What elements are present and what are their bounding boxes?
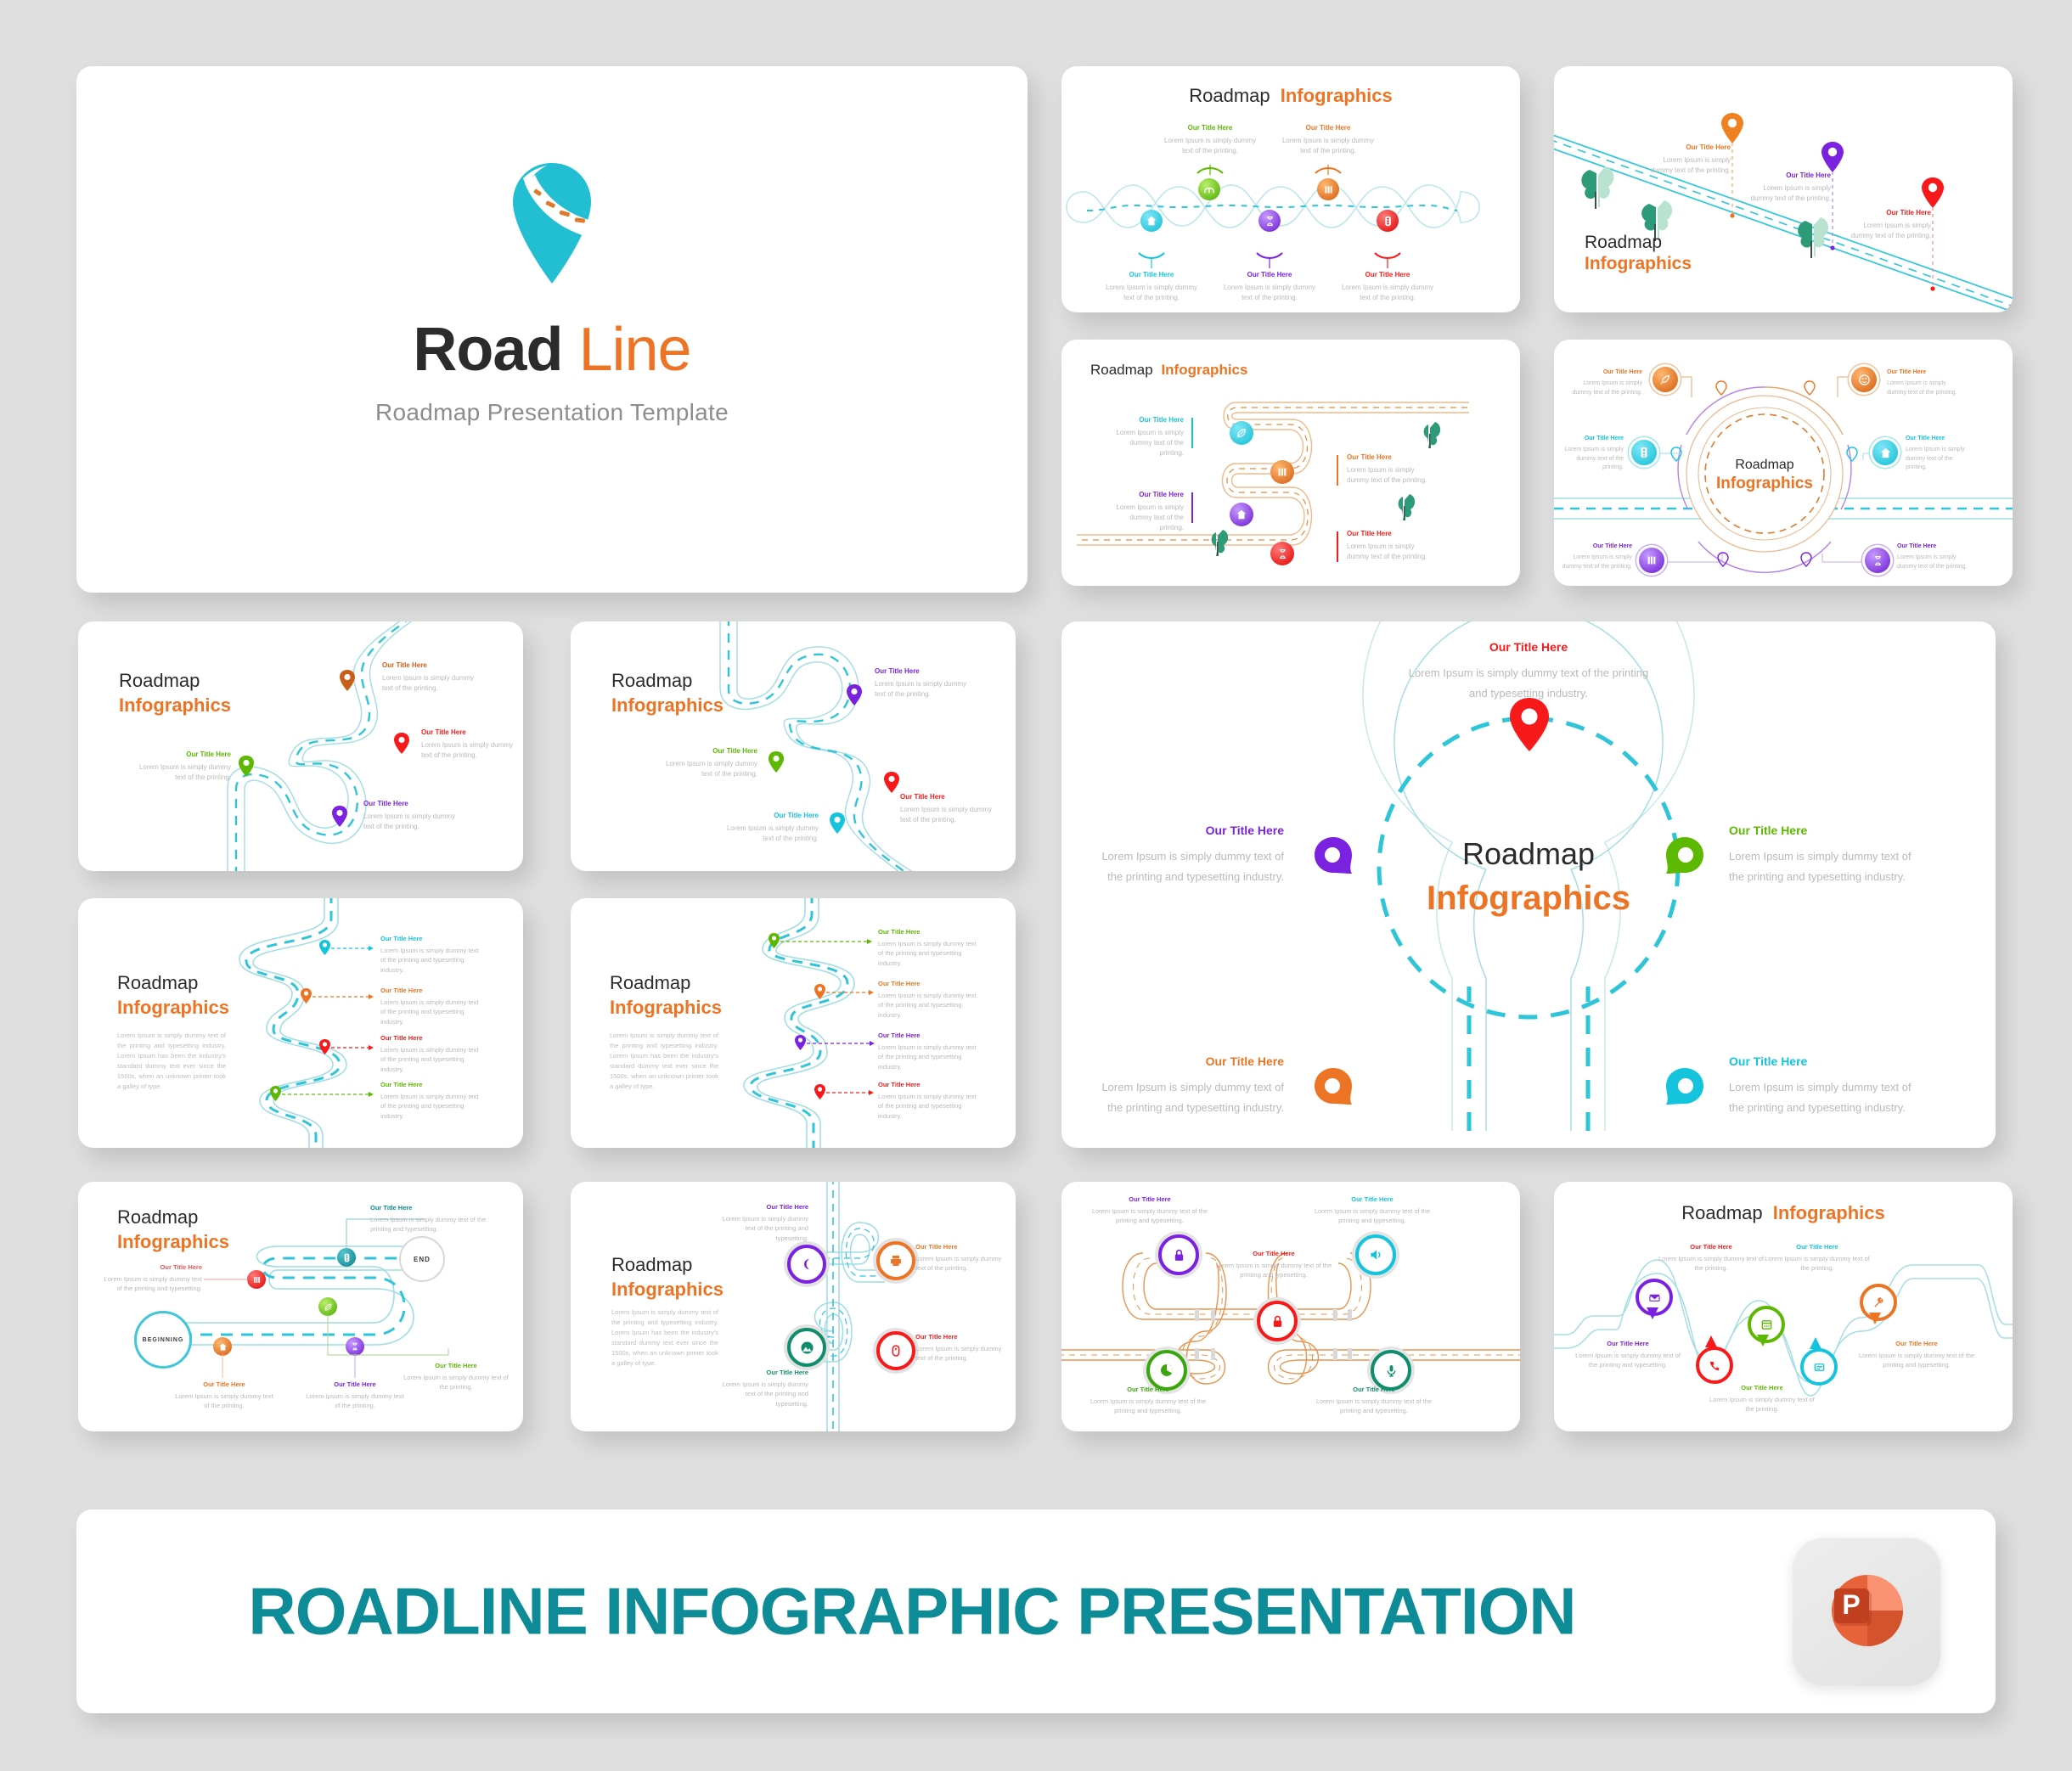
slide-four-badge[interactable]: Roadmap Infographics Lorem Ipsum is simp… — [571, 1182, 1016, 1431]
map-pin-icon[interactable] — [846, 683, 863, 706]
map-pin-icon[interactable] — [768, 751, 785, 773]
step-block: Our Title Here Lorem Ipsum is simply dum… — [1561, 543, 1632, 571]
hourglass-icon[interactable] — [1865, 548, 1890, 573]
step-block: Our Title Here Lorem Ipsum is simply dum… — [1564, 369, 1642, 397]
step-block: Our Title Here Lorem Ipsum is simply dum… — [401, 1362, 511, 1392]
slide-winding-a[interactable]: Roadmap Infographics Our Title Here Lore… — [78, 621, 523, 871]
step-block: Our Title Here Lorem Ipsum is simply dum… — [1556, 436, 1624, 473]
home-icon[interactable] — [1872, 440, 1898, 465]
step-block: Our Title Here Lorem Ipsum is simply dum… — [138, 751, 231, 783]
lock-icon[interactable] — [1257, 1301, 1298, 1341]
step-block: Our Title Here Lorem Ipsum is simply dum… — [1159, 124, 1261, 156]
card-icon[interactable] — [1800, 1348, 1838, 1386]
center-title: Roadmap Infographics — [1393, 835, 1664, 919]
tree-icon — [1574, 158, 1625, 211]
step-block: Our Title Here Lorem Ipsum is simply dum… — [99, 1263, 202, 1294]
map-pin-icon — [1717, 552, 1729, 567]
step-block: Our Title Here Lorem Ipsum is simply dum… — [725, 812, 819, 844]
map-pin-icon — [1804, 380, 1816, 396]
step-block: Our Title Here Lorem Ipsum is simply dum… — [878, 928, 980, 968]
step-block: Our Title Here Lorem Ipsum is simply dum… — [380, 987, 482, 1026]
step-block: Our Title Here Lorem Ipsum is simply dum… — [1347, 453, 1432, 486]
pin-tail — [1646, 1307, 1659, 1321]
step-block: Our Title Here Lorem Ipsum is simply dum… — [380, 935, 482, 975]
map-pin-icon[interactable] — [768, 932, 780, 949]
map-pin-icon[interactable] — [1921, 177, 1945, 209]
map-pin-icon — [1800, 552, 1812, 567]
pin-tail — [1868, 1313, 1882, 1326]
divider — [1337, 531, 1338, 562]
step-block: Our Title Here Lorem Ipsum is simply dum… — [1573, 1340, 1683, 1370]
leader-line — [331, 946, 375, 951]
leader-line — [826, 1090, 876, 1095]
map-pin-icon[interactable] — [883, 771, 900, 794]
slide-title: Roadmap Infographics — [1090, 362, 1247, 379]
step-block: Our Title Here Lorem Ipsum is simply dum… — [1656, 1243, 1766, 1273]
map-pin-icon[interactable] — [829, 812, 846, 835]
leader-line — [807, 1041, 876, 1046]
pin-tail — [1756, 1335, 1770, 1348]
banner-title: ROADLINE INFOGRAPHIC PRESENTATION — [105, 1573, 1719, 1650]
map-pin-icon[interactable] — [1664, 1066, 1705, 1107]
step-block: Our Title Here Lorem Ipsum is simply dum… — [1729, 1054, 1914, 1118]
slide-big-circle[interactable]: Roadmap Infographics Our Title Here Lore… — [1061, 621, 1996, 1148]
rocket-icon[interactable] — [1653, 367, 1678, 392]
beginning-badge[interactable]: BEGINNING — [134, 1311, 192, 1369]
tree-icon — [1209, 528, 1231, 557]
step-block: Our Title Here Lorem Ipsum is simply dum… — [304, 1380, 406, 1411]
step-block: Our Title Here Lorem Ipsum is simply dum… — [1104, 416, 1184, 458]
step-block: Our Title Here Lorem Ipsum is simply dum… — [380, 1034, 482, 1074]
slide-interchange[interactable]: Our Title Here Lorem Ipsum is simply dum… — [1061, 1182, 1520, 1431]
map-pin-icon[interactable] — [331, 805, 348, 828]
leader-line — [331, 1045, 375, 1050]
pie-chart-icon[interactable] — [1146, 1350, 1187, 1391]
map-pin-icon[interactable] — [1664, 835, 1705, 876]
speaker-icon[interactable] — [1355, 1234, 1396, 1275]
leader-line — [219, 1354, 228, 1380]
step-block: Our Title Here Lorem Ipsum is simply dum… — [915, 1333, 1009, 1363]
step-block: Our Title Here Lorem Ipsum is simply dum… — [1090, 1195, 1209, 1226]
leaf-icon[interactable] — [1230, 421, 1253, 445]
lock-icon[interactable] — [1158, 1234, 1199, 1275]
slide-cover[interactable]: Road Line Roadmap Presentation Template — [76, 66, 1028, 593]
slide-wave-badge[interactable]: Roadmap Infographics Our Title Here — [1554, 1182, 2013, 1431]
step-block: Our Title Here Lorem Ipsum is simply dum… — [1277, 124, 1379, 156]
road-icon[interactable] — [1631, 440, 1657, 465]
leader-line — [312, 994, 375, 999]
connector-arcs — [1061, 158, 1520, 277]
step-block: Our Title Here Lorem Ipsum is simply dum… — [1101, 271, 1202, 303]
slide-s-curve[interactable]: Roadmap Infographics — [1061, 340, 1520, 586]
map-pin-icon — [1715, 380, 1727, 396]
step-block: Our Title Here Lorem Ipsum is simply dum… — [900, 793, 994, 825]
step-block: Our Title Here Lorem Ipsum is simply dum… — [1887, 369, 1965, 397]
step-block: Our Title Here Lorem Ipsum is simply dum… — [878, 1081, 980, 1121]
smiley-icon[interactable] — [1851, 367, 1877, 392]
slide-vertical-list-b[interactable]: Roadmap Infographics Lorem Ipsum is simp… — [571, 898, 1016, 1148]
mouse-icon[interactable] — [876, 1331, 915, 1370]
step-block: Our Title Here Lorem Ipsum is simply dum… — [875, 667, 968, 700]
pin-tail — [1704, 1335, 1718, 1348]
center-title: Roadmap Infographics — [1688, 457, 1841, 493]
slide-title: Roadmap Infographics — [1061, 85, 1520, 107]
leader-line — [282, 1092, 375, 1097]
step-block: Our Title Here Lorem Ipsum is simply dum… — [382, 661, 482, 694]
step-block: Our Title Here Lorem Ipsum is simply dum… — [1219, 271, 1320, 303]
step-block: Our Title Here Lorem Ipsum is simply dum… — [1746, 171, 1831, 204]
map-pin-icon[interactable] — [238, 755, 255, 778]
moon-icon[interactable] — [787, 1245, 826, 1284]
slide-diagonal-road[interactable]: Our Title Here Lorem Ipsum is simply dum… — [1554, 66, 2013, 312]
step-block: Our Title Here Lorem Ipsum is simply dum… — [1897, 543, 1968, 571]
leaf-icon[interactable] — [318, 1297, 337, 1316]
powerpoint-letter: P — [1842, 1589, 1860, 1620]
map-pin-icon[interactable] — [1313, 1066, 1354, 1107]
step-block: Our Title Here Lorem Ipsum is simply dum… — [1214, 1250, 1333, 1280]
printer-icon[interactable] — [876, 1241, 915, 1280]
step-block: Our Title Here Lorem Ipsum is simply dum… — [664, 747, 757, 779]
map-pin-icon[interactable] — [318, 939, 331, 956]
step-block: Our Title Here Lorem Ipsum is simply dum… — [878, 1032, 980, 1071]
step-block: Our Title Here Lorem Ipsum is simply dum… — [1313, 1195, 1432, 1226]
divider — [1191, 492, 1193, 523]
slide-winding-b[interactable]: Roadmap Infographics Our Title Here Lore… — [571, 621, 1016, 871]
map-pin-icon[interactable] — [339, 669, 356, 692]
phone-icon[interactable] — [1696, 1347, 1733, 1384]
step-block: Our Title Here Lorem Ipsum is simply dum… — [380, 1081, 482, 1121]
step-block: Our Title Here Lorem Ipsum is simply dum… — [1099, 824, 1284, 887]
brand-first-word: Road — [413, 316, 562, 384]
step-block: Our Title Here Lorem Ipsum is simply dum… — [421, 728, 515, 761]
step-block: Our Title Here Lorem Ipsum is simply dum… — [915, 1243, 1009, 1273]
home-icon[interactable] — [213, 1337, 232, 1356]
step-block: Our Title Here Lorem Ipsum is simply dum… — [363, 800, 457, 832]
map-pin-icon[interactable] — [1508, 696, 1551, 754]
slide-vertical-list-a[interactable]: Roadmap Infographics Lorem Ipsum is simp… — [78, 898, 523, 1148]
tree-icon — [1396, 492, 1418, 521]
divider — [1337, 455, 1338, 486]
map-pin-icon[interactable] — [393, 732, 410, 755]
step-block: Our Title Here Lorem Ipsum is simply dum… — [1729, 824, 1914, 887]
step-block: Our Title Here Lorem Ipsum is simply dum… — [1104, 491, 1184, 533]
map-pin-icon[interactable] — [300, 987, 312, 1004]
step-block: Our Title Here Lorem Ipsum is simply dum… — [1401, 640, 1656, 704]
slide-circle-6-step[interactable]: Roadmap Infographics Our Title Here Lore… — [1554, 340, 2013, 586]
leader-line — [321, 1314, 452, 1358]
tree-icon — [1422, 420, 1444, 449]
tree-icon — [1214, 446, 1333, 531]
map-pin-icon — [1846, 447, 1858, 462]
divider — [1191, 418, 1193, 448]
leader-line — [780, 939, 874, 944]
step-block: Our Title Here Lorem Ipsum is simply dum… — [1762, 1243, 1872, 1273]
step-block: Our Title Here Lorem Ipsum is simply dum… — [1846, 209, 1931, 241]
step-block: Our Title Here Lorem Ipsum is simply dum… — [878, 980, 980, 1020]
step-block: Our Title Here Lorem Ipsum is simply dum… — [1337, 271, 1439, 303]
map-pin-icon[interactable] — [1720, 112, 1744, 144]
step-block: Our Title Here Lorem Ipsum is simply dum… — [1646, 143, 1731, 176]
bottom-banner[interactable]: ROADLINE INFOGRAPHIC PRESENTATION P — [76, 1510, 1996, 1713]
cover-content: Road Line Roadmap Presentation Template — [76, 160, 1028, 426]
powerpoint-icon[interactable]: P — [1792, 1537, 1941, 1686]
location-pin-road-logo-icon — [508, 160, 596, 287]
image-icon[interactable] — [787, 1328, 826, 1367]
step-block: Our Title Here Lorem Ipsum is simply dum… — [1347, 530, 1432, 562]
microphone-icon[interactable] — [1371, 1350, 1411, 1391]
slide-title: Roadmap Infographics — [1585, 233, 1692, 275]
map-pin-icon[interactable] — [814, 983, 826, 1000]
columns-icon[interactable] — [1639, 548, 1664, 573]
step-block: Our Title Here Lorem Ipsum is simply dum… — [173, 1380, 275, 1411]
step-block: Our Title Here Lorem Ipsum is simply dum… — [1906, 436, 1973, 473]
map-pin-icon — [1670, 447, 1682, 462]
cover-tagline: Roadmap Presentation Template — [375, 399, 729, 426]
map-pin-icon[interactable] — [794, 1034, 807, 1051]
slide-wave-5-step[interactable]: Roadmap Infographics — [1061, 66, 1520, 312]
step-block: Our Title Here Lorem Ipsum is simply dum… — [1315, 1386, 1433, 1416]
step-block: Our Title Here Lorem Ipsum is simply dum… — [1853, 1340, 1980, 1370]
leader-line — [204, 1277, 251, 1282]
leader-line — [826, 990, 876, 995]
map-pin-icon[interactable] — [269, 1085, 282, 1102]
pin-tail — [1809, 1336, 1822, 1350]
step-block: Our Title Here Lorem Ipsum is simply dum… — [715, 1369, 808, 1408]
step-block: Our Title Here Lorem Ipsum is simply dum… — [370, 1204, 498, 1234]
map-pin-icon[interactable] — [318, 1038, 331, 1055]
brand-second-word: Line — [578, 316, 690, 384]
step-block: Our Title Here Lorem Ipsum is simply dum… — [1707, 1384, 1817, 1414]
step-block: Our Title Here Lorem Ipsum is simply dum… — [1099, 1054, 1284, 1118]
preview-sheet: Road Line Roadmap Presentation Template … — [0, 0, 2072, 1771]
hourglass-icon[interactable] — [1270, 542, 1294, 565]
map-pin-icon[interactable] — [814, 1083, 826, 1100]
slide-beginning-end[interactable]: Roadmap Infographics BEGINNING END Our T… — [78, 1182, 523, 1431]
brand-wordmark: Road Line — [413, 319, 690, 380]
step-block: Our Title Here Lorem Ipsum is simply dum… — [715, 1203, 808, 1243]
map-pin-icon[interactable] — [1313, 835, 1354, 876]
map-pin-icon[interactable] — [1821, 141, 1844, 173]
step-block: Our Title Here Lorem Ipsum is simply dum… — [1089, 1386, 1208, 1416]
